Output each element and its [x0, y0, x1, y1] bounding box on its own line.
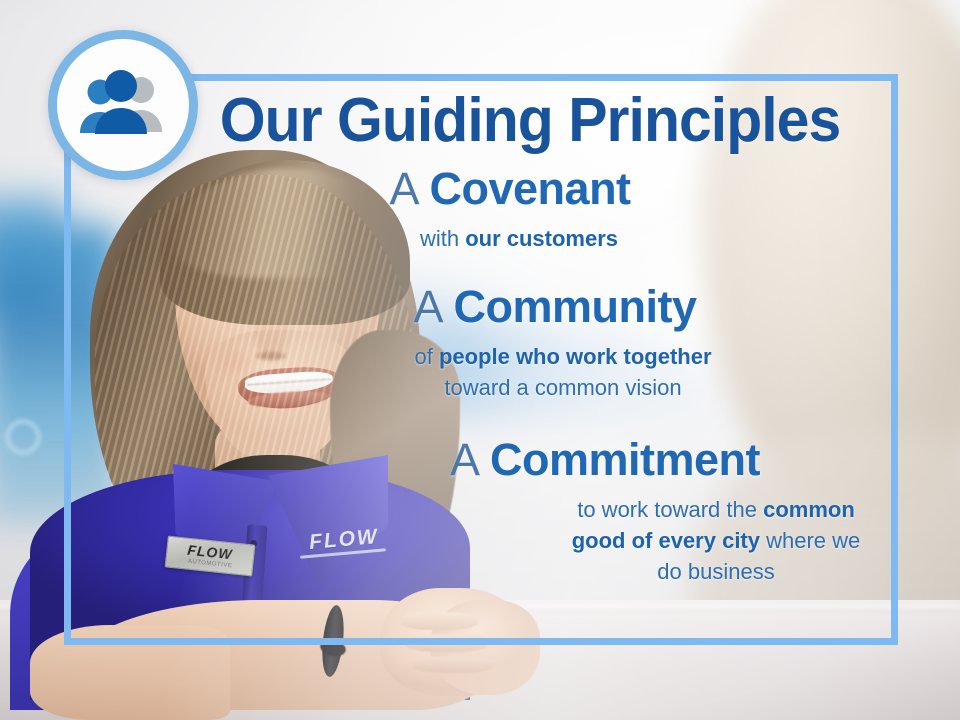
principle-community-article: A	[413, 281, 441, 332]
principle-commitment-heading: A Commitment	[190, 433, 870, 487]
principle-covenant-sub-plain-1: with	[420, 226, 465, 251]
principle-commitment: A Commitment to work toward the common g…	[190, 433, 870, 587]
principle-commitment-sub-plain-1: to work toward the	[577, 497, 763, 522]
blurred-blue-display-top	[0, 195, 66, 315]
guiding-principles-graphic: FLOW FLOW AUTOMOTIVE	[0, 0, 960, 720]
subject-finger-1	[400, 612, 478, 630]
blurred-vehicle-badge	[6, 420, 40, 454]
principle-community-sub-bold-1: people who work together	[439, 344, 712, 369]
principle-commitment-word: Commitment	[490, 434, 760, 485]
principle-community-word: Community	[454, 281, 697, 332]
subject-finger-3	[412, 656, 494, 673]
principle-covenant-sub-bold-1: our customers	[465, 226, 618, 251]
principle-covenant-article: A	[389, 163, 417, 214]
principle-covenant-word: Covenant	[430, 163, 631, 214]
text-content: Our Guiding Principles A Covenant with o…	[190, 86, 870, 587]
principle-commitment-sub-bold-2: good of every city	[572, 528, 760, 553]
principle-commitment-article: A	[450, 434, 478, 485]
principle-community-heading: A Community	[190, 280, 870, 334]
people-group-badge	[48, 30, 198, 180]
principle-covenant: A Covenant with our customers	[190, 162, 870, 254]
principle-commitment-subtext: to work toward the common good of every …	[376, 494, 870, 587]
people-group-icon	[75, 70, 171, 140]
principle-covenant-heading: A Covenant	[190, 162, 870, 216]
page-title: Our Guiding Principles	[207, 86, 853, 156]
principle-community-subtext-line1: of people who work together	[190, 341, 870, 372]
principle-community: A Community of people who work together …	[190, 280, 870, 403]
principle-covenant-subtext: with our customers	[190, 223, 870, 254]
subject-upper-arm	[30, 625, 230, 720]
principle-community-subtext-line2: toward a common vision	[190, 372, 870, 403]
principle-community-sub-plain-1: of	[414, 344, 438, 369]
subject-finger-2	[405, 634, 489, 652]
principle-commitment-sub-bold-1: common	[763, 497, 855, 522]
